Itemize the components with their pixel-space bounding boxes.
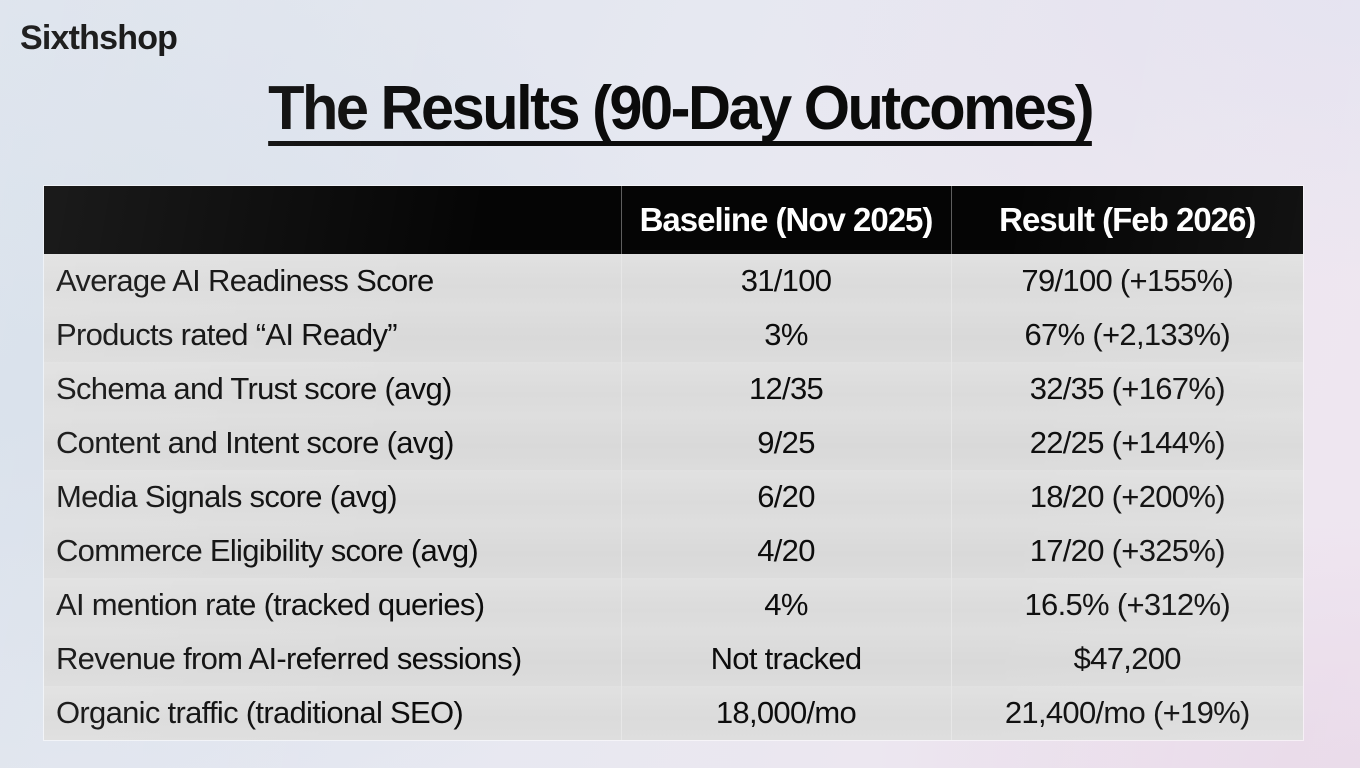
column-header-result: Result (Feb 2026) [951, 186, 1303, 254]
table-body: Average AI Readiness Score31/10079/100 (… [44, 254, 1303, 740]
cell-baseline: 12/35 [621, 362, 951, 416]
cell-result: 16.5% (+312%) [951, 578, 1303, 632]
table-row: Media Signals score (avg)6/2018/20 (+200… [44, 470, 1303, 524]
cell-baseline: 9/25 [621, 416, 951, 470]
slide-title-container: The Results (90-Day Outcomes) [0, 78, 1360, 146]
cell-result: 17/20 (+325%) [951, 524, 1303, 578]
cell-metric: Revenue from AI-referred sessions) [44, 632, 621, 686]
cell-result: $47,200 [951, 632, 1303, 686]
cell-baseline: 4% [621, 578, 951, 632]
cell-result: 21,400/mo (+19%) [951, 686, 1303, 740]
cell-result: 18/20 (+200%) [951, 470, 1303, 524]
table-header-row: Baseline (Nov 2025) Result (Feb 2026) [44, 186, 1303, 254]
cell-result: 79/100 (+155%) [951, 254, 1303, 308]
table-header: Baseline (Nov 2025) Result (Feb 2026) [44, 186, 1303, 254]
cell-result: 67% (+2,133%) [951, 308, 1303, 362]
cell-result: 22/25 (+144%) [951, 416, 1303, 470]
table-row: AI mention rate (tracked queries)4%16.5%… [44, 578, 1303, 632]
cell-baseline: 18,000/mo [621, 686, 951, 740]
column-header-baseline: Baseline (Nov 2025) [621, 186, 951, 254]
table-row: Average AI Readiness Score31/10079/100 (… [44, 254, 1303, 308]
table-row: Revenue from AI-referred sessions)Not tr… [44, 632, 1303, 686]
cell-baseline: 6/20 [621, 470, 951, 524]
table-row: Commerce Eligibility score (avg)4/2017/2… [44, 524, 1303, 578]
table-row: Organic traffic (traditional SEO)18,000/… [44, 686, 1303, 740]
cell-metric: Schema and Trust score (avg) [44, 362, 621, 416]
brand-logo: Sixthshop [20, 20, 177, 57]
column-header-metric [44, 186, 621, 254]
results-table: Baseline (Nov 2025) Result (Feb 2026) Av… [44, 186, 1303, 740]
cell-metric: Content and Intent score (avg) [44, 416, 621, 470]
cell-metric: Organic traffic (traditional SEO) [44, 686, 621, 740]
cell-metric: Products rated “AI Ready” [44, 308, 621, 362]
cell-result: 32/35 (+167%) [951, 362, 1303, 416]
cell-baseline: 4/20 [621, 524, 951, 578]
page-title: The Results (90-Day Outcomes) [268, 78, 1092, 146]
cell-metric: Commerce Eligibility score (avg) [44, 524, 621, 578]
cell-metric: Media Signals score (avg) [44, 470, 621, 524]
cell-baseline: 31/100 [621, 254, 951, 308]
cell-baseline: Not tracked [621, 632, 951, 686]
table-row: Products rated “AI Ready”3%67% (+2,133%) [44, 308, 1303, 362]
table-row: Schema and Trust score (avg)12/3532/35 (… [44, 362, 1303, 416]
cell-metric: Average AI Readiness Score [44, 254, 621, 308]
cell-metric: AI mention rate (tracked queries) [44, 578, 621, 632]
cell-baseline: 3% [621, 308, 951, 362]
table-row: Content and Intent score (avg)9/2522/25 … [44, 416, 1303, 470]
